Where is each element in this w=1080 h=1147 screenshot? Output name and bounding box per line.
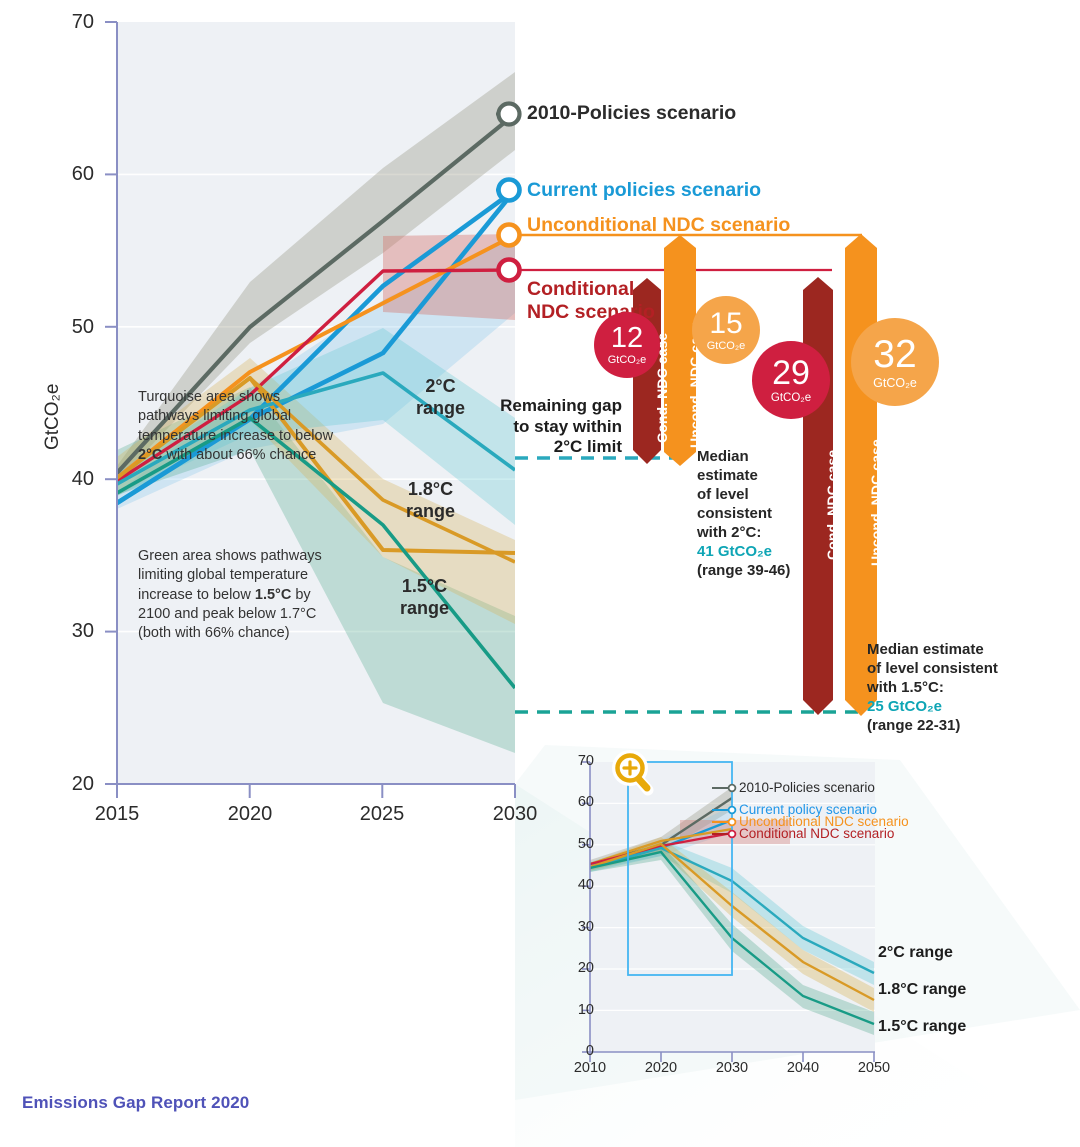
x-tick-2015: 2015 — [77, 803, 157, 826]
gap-bubble-12-value: 12 — [611, 324, 643, 353]
marker-uncond-ndc — [499, 225, 520, 246]
median-1p5c-range: (range 22-31) — [867, 716, 1047, 735]
marker-2010-policies — [499, 104, 520, 125]
gap-bubble-12: 12 GtCO₂e — [594, 312, 660, 378]
inset-y-tick-20: 20 — [560, 960, 594, 976]
gap-bubble-32-unit: GtCO₂e — [873, 377, 917, 390]
median-2c-l5: with 2°C: — [697, 523, 807, 542]
range-label-1p5c: 1.5°C range — [400, 576, 449, 619]
scenario-label-current-policies: Current policies scenario — [527, 179, 761, 202]
gap-bubble-15-unit: GtCO₂e — [707, 341, 746, 352]
emissions-gap-figure: 70 60 50 40 30 20 2015 2020 2025 2030 Gt… — [0, 0, 1080, 1147]
median-1p5c-l3: with 1.5°C: — [867, 678, 1047, 697]
y-tick-50: 50 — [48, 316, 94, 339]
y-tick-70: 70 — [48, 11, 94, 34]
remaining-gap-caption: Remaining gap to stay within 2°C limit — [492, 396, 622, 458]
note-turquoise: Turquoise area shows pathways limiting g… — [138, 388, 334, 465]
inset-x-tick-2020: 2020 — [631, 1060, 691, 1076]
marker-current-policies — [499, 180, 520, 201]
median-1p5c-l2: of level consistent — [867, 659, 1047, 678]
median-2c-l2: estimate — [697, 466, 807, 485]
inset-y-tick-10: 10 — [560, 1002, 594, 1018]
inset-legend-cond-ndc: Conditional NDC scenario — [739, 826, 894, 841]
median-2c-l3: of level — [697, 485, 807, 504]
inset-range-label-1p8c: 1.8°C range — [878, 981, 966, 999]
scenario-label-uncond-ndc: Unconditional NDC scenario — [527, 214, 790, 237]
y-tick-60: 60 — [48, 163, 94, 186]
gap-bubble-12-unit: GtCO₂e — [608, 355, 647, 366]
gap-bubble-32: 32 GtCO₂e — [851, 318, 939, 406]
gap-bubble-15-value: 15 — [709, 309, 742, 339]
x-axis-ticks — [117, 784, 515, 798]
marker-cond-ndc — [499, 260, 520, 281]
y-tick-20: 20 — [48, 773, 94, 796]
y-tick-30: 30 — [48, 620, 94, 643]
inset-x-tick-2040: 2040 — [773, 1060, 833, 1076]
inset-y-tick-40: 40 — [560, 877, 594, 893]
gap-bubble-32-value: 32 — [873, 335, 916, 374]
gap-arrow-label-cond-15c: Cond. NDC case — [824, 450, 840, 560]
inset-y-tick-30: 30 — [560, 919, 594, 935]
inset-range-label-1p5c: 1.5°C range — [878, 1018, 966, 1036]
range-label-2c: 2°C range — [416, 376, 465, 419]
inset-y-tick-60: 60 — [560, 794, 594, 810]
median-2c-l4: consistent — [697, 504, 807, 523]
footer-caption: Emissions Gap Report 2020 — [22, 1093, 249, 1113]
inset-legend-2010-policies: 2010-Policies scenario — [739, 780, 875, 795]
median-1p5c-l1: Median estimate — [867, 640, 1047, 659]
y-axis-title: GtCO₂e — [42, 384, 64, 451]
gap-bubble-29-value: 29 — [772, 356, 810, 390]
note-green: Green area shows pathways limiting globa… — [138, 547, 334, 643]
range-label-1p8c: 1.8°C range — [406, 479, 455, 522]
inset-x-tick-2030: 2030 — [702, 1060, 762, 1076]
inset-range-label-2c: 2°C range — [878, 944, 953, 962]
median-1p5c-value: 25 GtCO₂e — [867, 697, 1047, 716]
median-2c-l1: Median — [697, 447, 807, 466]
gap-bubble-29: 29 GtCO₂e — [752, 341, 830, 419]
gap-arrow-label-uncond-15c: Uncond. NDC case — [868, 439, 884, 566]
gap-bubble-29-unit: GtCO₂e — [771, 393, 811, 405]
inset-x-tick-2050: 2050 — [844, 1060, 904, 1076]
median-2c-range: (range 39-46) — [697, 561, 807, 580]
y-axis-ticks — [105, 22, 117, 784]
inset-y-tick-0: 0 — [560, 1043, 594, 1059]
median-1p5c-block: Median estimate of level consistent with… — [867, 640, 1047, 735]
scenario-label-2010-policies: 2010-Policies scenario — [527, 102, 736, 125]
median-2c-value: 41 GtCO₂e — [697, 542, 807, 561]
inset-y-tick-70: 70 — [560, 753, 594, 769]
x-tick-2025: 2025 — [342, 803, 422, 826]
x-tick-2020: 2020 — [210, 803, 290, 826]
gap-bubble-15: 15 GtCO₂e — [692, 296, 760, 364]
median-2c-block: Median estimate of level consistent with… — [697, 447, 807, 580]
y-tick-40: 40 — [48, 468, 94, 491]
inset-x-tick-2010: 2010 — [560, 1060, 620, 1076]
inset-y-tick-50: 50 — [560, 836, 594, 852]
